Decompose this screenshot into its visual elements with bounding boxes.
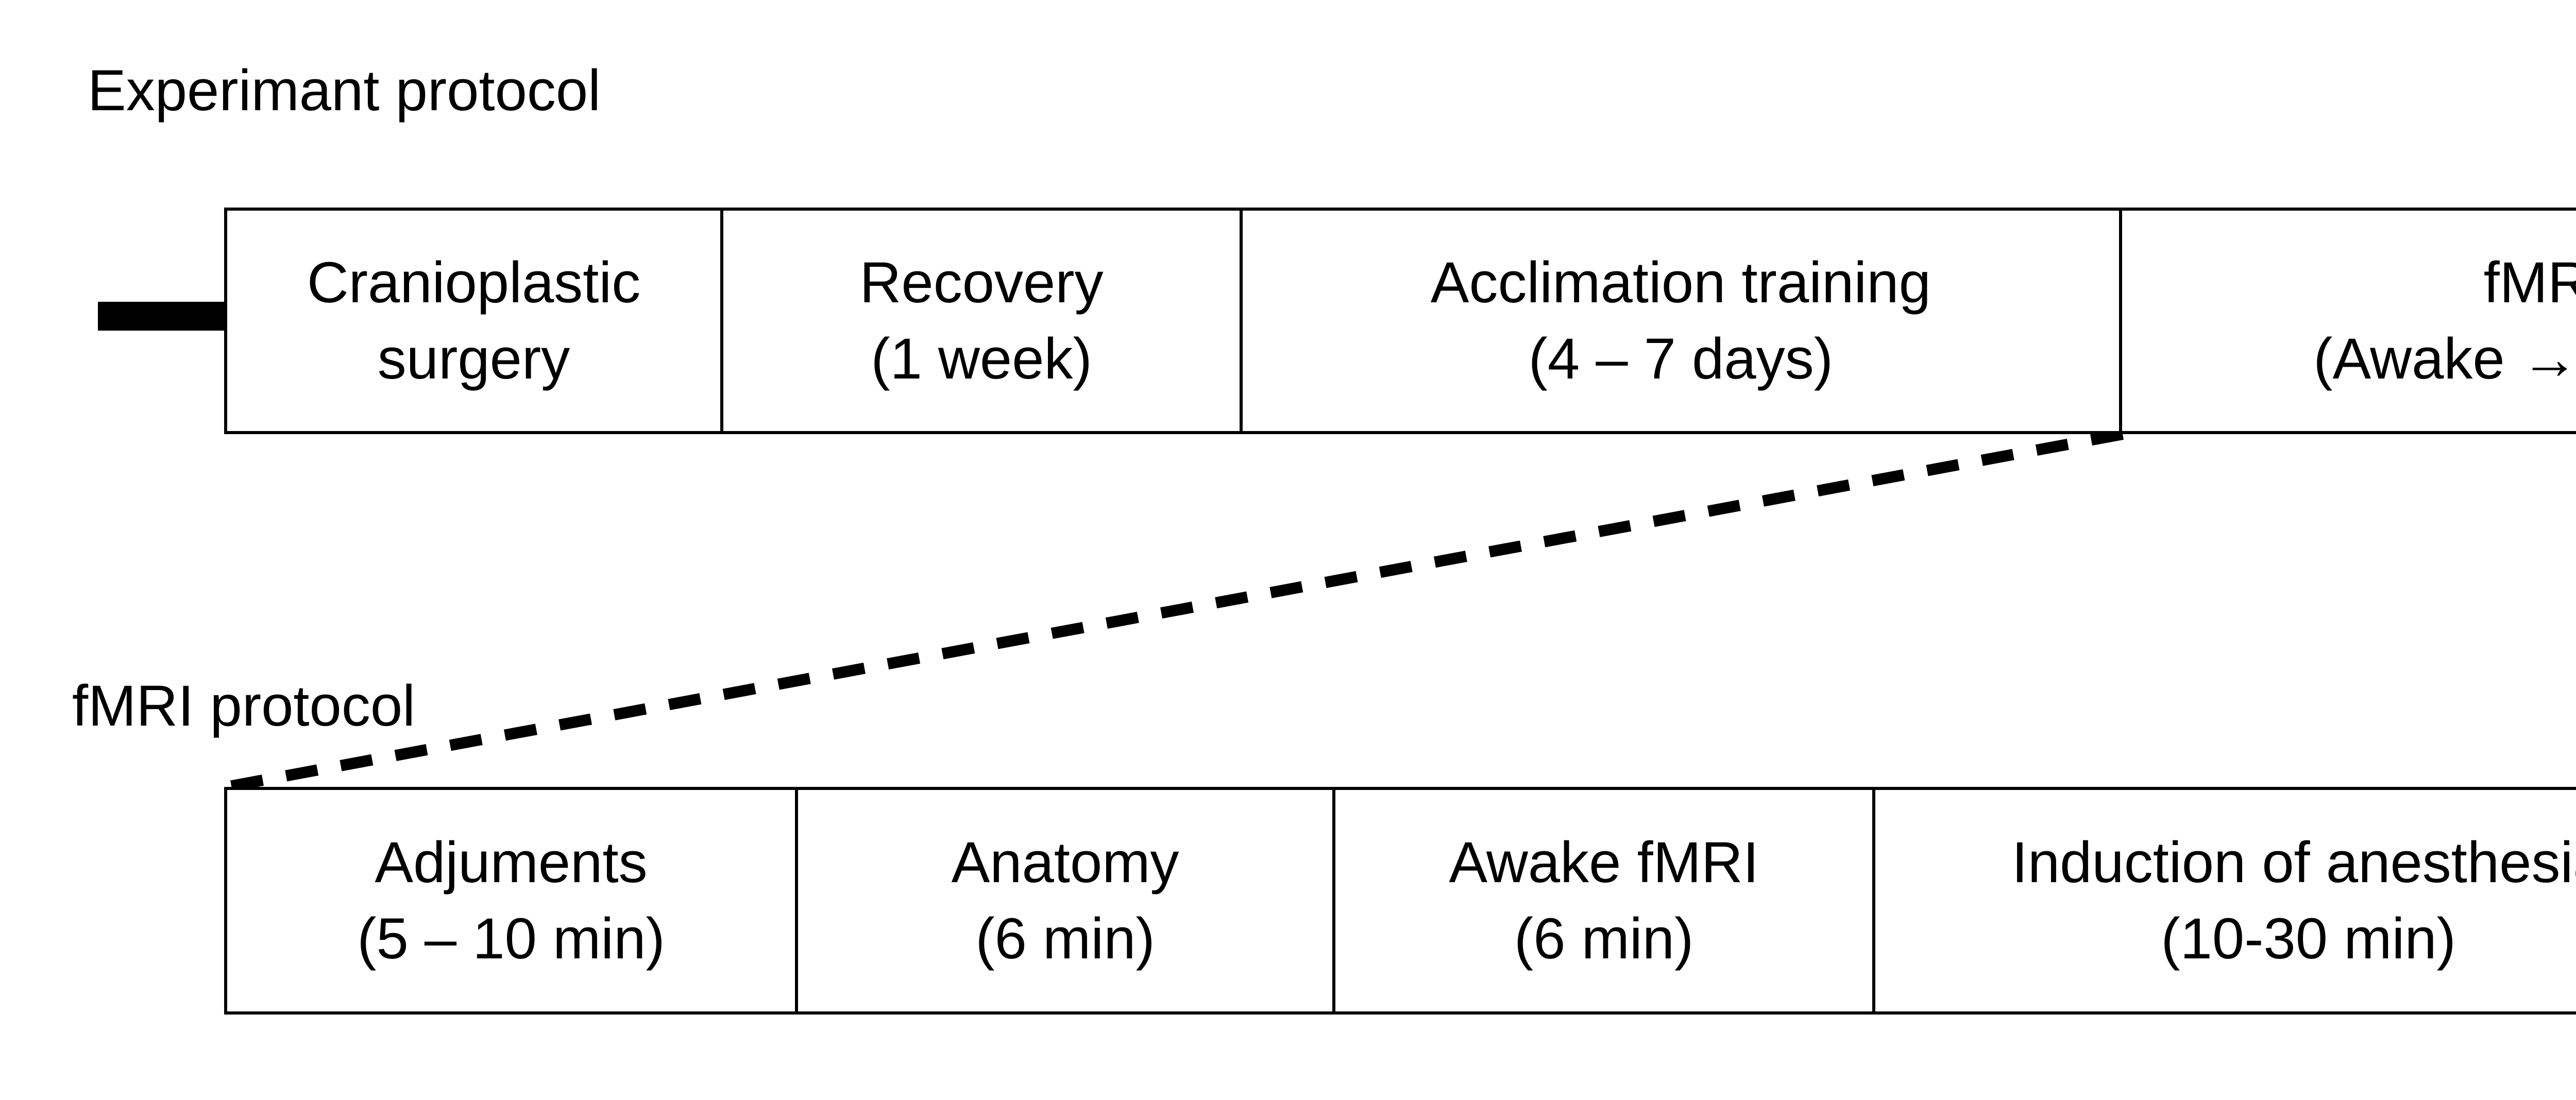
stage-duration: surgery <box>378 321 570 397</box>
stage-title: Anatomy <box>952 824 1179 901</box>
experiment-protocol-caption: Experimant protocol <box>88 62 601 119</box>
stage-anatomy[interactable]: Anatomy (6 min) <box>798 790 1335 1011</box>
stage-duration: (10-30 min) <box>2161 901 2456 977</box>
stage-title: Recovery <box>860 245 1104 321</box>
stage-acclimation-training[interactable]: Acclimation training (4 – 7 days) <box>1243 211 2122 431</box>
stage-duration: (6 min) <box>975 901 1155 977</box>
experiment-protocol-diagram: Experimant protocol Cranioplastic surger… <box>0 0 2576 1100</box>
stage-awake-fmri[interactable]: Awake fMRI (6 min) <box>1335 790 1875 1011</box>
stage-induction-of-anesthesia[interactable]: Induction of anesthesia (10-30 min) <box>1875 790 2576 1011</box>
stage-duration: (1 week) <box>871 321 1092 397</box>
stage-title: Induction of anesthesia <box>2012 824 2576 901</box>
stage-title: Acclimation training <box>1431 245 1931 321</box>
stage-title: Awake fMRI <box>1449 824 1759 901</box>
stage-adjuments[interactable]: Adjuments (5 – 10 min) <box>227 790 798 1011</box>
stage-duration: (5 – 10 min) <box>357 901 665 977</box>
stage-title: fMRI experilment <box>2484 245 2576 321</box>
fmri-timeline-row: Adjuments (5 – 10 min) Anatomy (6 min) A… <box>224 787 2576 1015</box>
stage-duration: (6 min) <box>1514 901 1693 977</box>
stage-cranioplastic-surgery[interactable]: Cranioplastic surgery <box>227 211 723 431</box>
timeline-start-stub-icon <box>98 302 227 331</box>
stage-title: Cranioplastic <box>307 245 640 321</box>
stage-recovery[interactable]: Recovery (1 week) <box>723 211 1243 431</box>
experiment-timeline-row: Cranioplastic surgery Recovery (1 week) … <box>224 208 2576 434</box>
stage-detail: (Awake → ISO or MED + ISO) <box>2313 321 2576 397</box>
dashed-leader-left-icon <box>227 434 2123 787</box>
fmri-protocol-caption: fMRI protocol <box>72 677 415 735</box>
stage-duration: (4 – 7 days) <box>1529 321 1833 397</box>
stage-fmri-experiment[interactable]: fMRI experilment (Awake → ISO or MED + I… <box>2122 211 2576 431</box>
stage-title: Adjuments <box>375 824 647 901</box>
